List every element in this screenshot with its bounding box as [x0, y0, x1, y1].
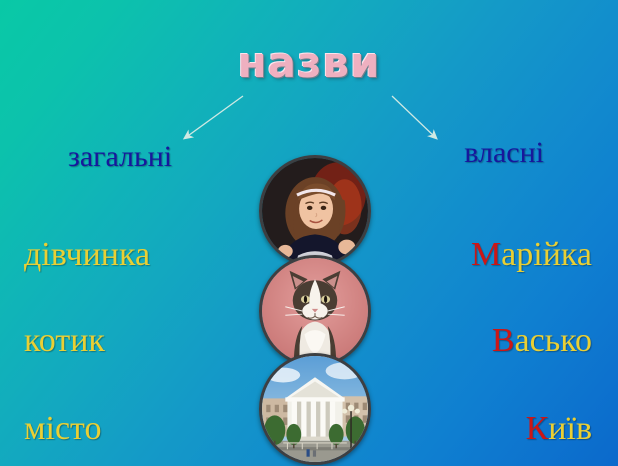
term-mariyka-initial: М [471, 236, 501, 273]
proper-nouns-column: власні Марійка Васько Київ [384, 0, 616, 466]
term-kotyk: котик [24, 324, 105, 358]
term-mariyka: Марійка [471, 238, 592, 272]
picture-stack [259, 155, 371, 465]
slide-canvas: назви загальні дівчинка котик місто влас… [0, 0, 618, 466]
term-kyiv-initial: К [526, 410, 549, 447]
term-vasko-initial: В [492, 322, 515, 359]
term-kyiv-rest: иїв [548, 410, 592, 447]
term-vasko-rest: асько [515, 322, 592, 359]
term-mariyka-rest: арійка [501, 236, 592, 273]
city-photo [259, 353, 371, 465]
term-misto: місто [24, 412, 101, 446]
term-divchynka: дівчинка [24, 238, 150, 272]
term-kyiv: Київ [526, 412, 592, 446]
common-nouns-column: загальні дівчинка котик місто [2, 0, 234, 466]
girl-photo [259, 155, 371, 267]
cat-photo [259, 255, 371, 367]
column-heading-proper: власні [464, 138, 544, 168]
column-heading-common: загальні [68, 142, 172, 172]
term-vasko: Васько [492, 324, 592, 358]
